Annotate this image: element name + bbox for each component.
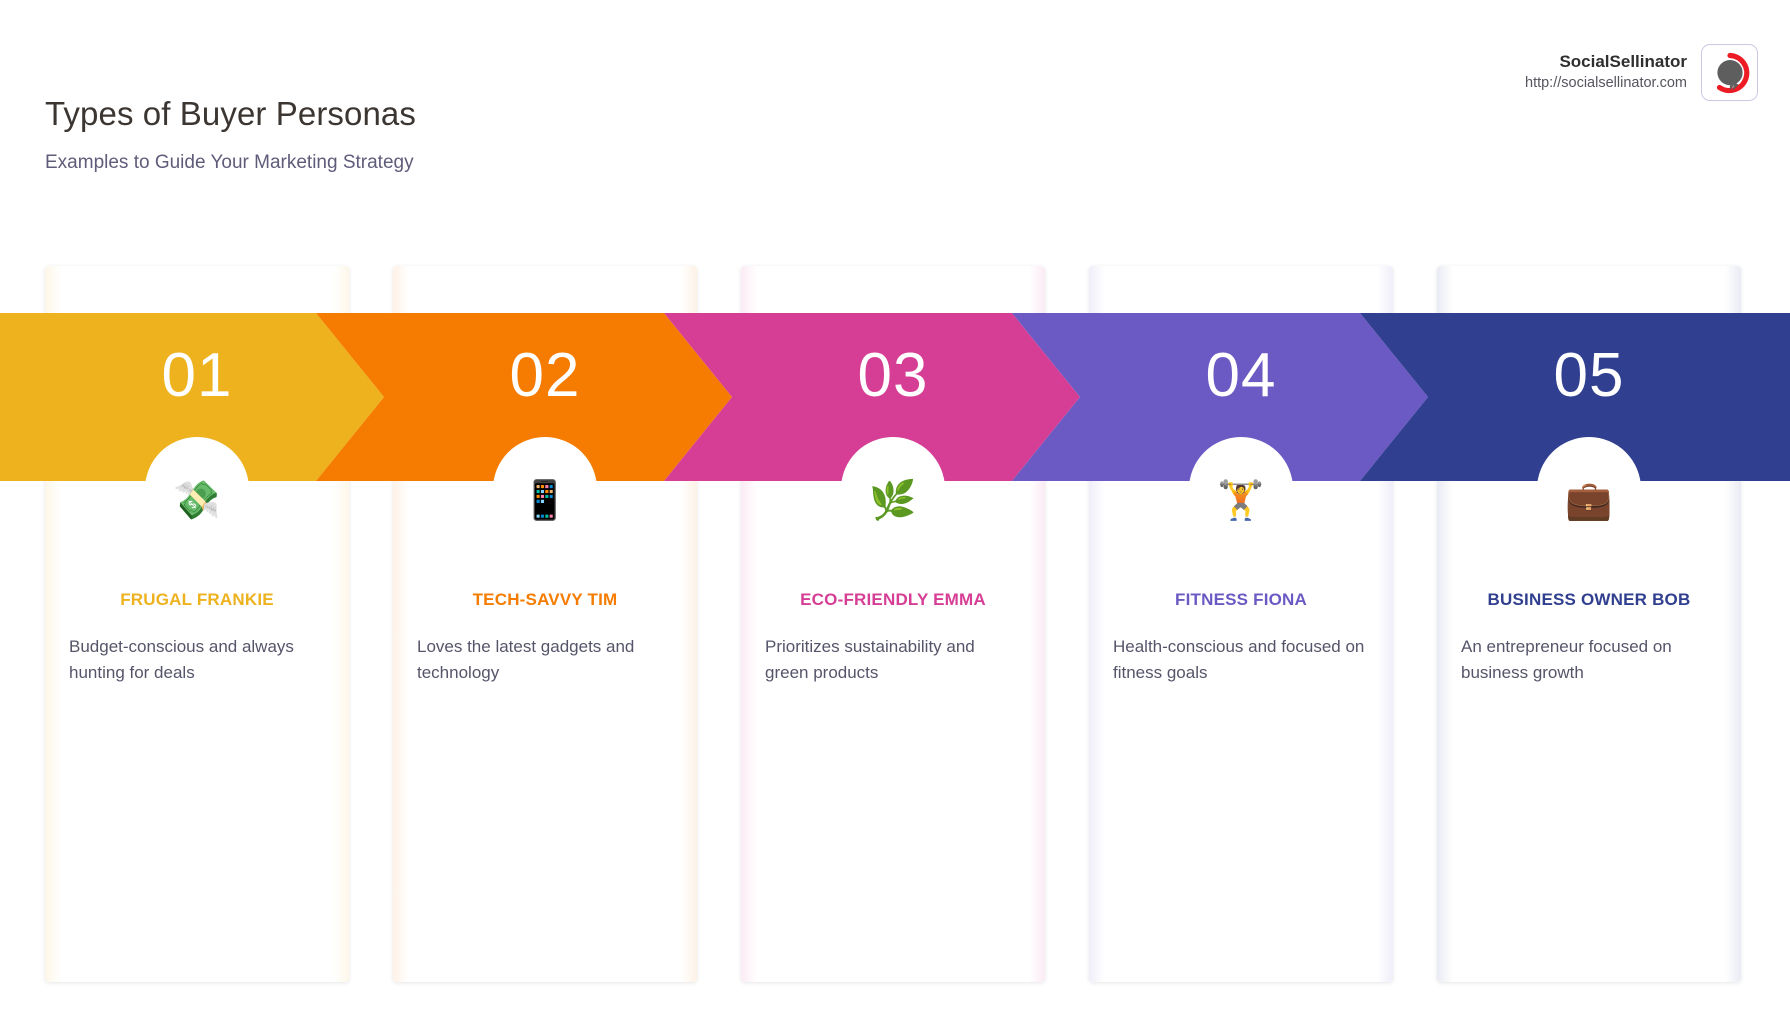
- infographic-page: Types of Buyer Personas Examples to Guid…: [0, 0, 1790, 1024]
- step-number: 03: [741, 340, 1045, 411]
- persona-description: Health-conscious and focused on fitness …: [1113, 634, 1369, 687]
- persona-label: FITNESS FIONA: [1089, 590, 1393, 610]
- persona-label: ECO-FRIENDLY EMMA: [741, 590, 1045, 610]
- persona-description: An entrepreneur focused on business grow…: [1461, 634, 1717, 687]
- persona-description: Budget-conscious and always hunting for …: [69, 634, 325, 687]
- persona-icon: 🌿: [741, 481, 1045, 519]
- persona-description: Loves the latest gadgets and technology: [417, 634, 673, 687]
- personas-stage: 💸 FRUGAL FRANKIE Budget-conscious and al…: [0, 0, 1790, 1024]
- persona-label: FRUGAL FRANKIE: [45, 590, 349, 610]
- step-number: 02: [393, 340, 697, 411]
- persona-icon: 💼: [1437, 481, 1741, 519]
- step-number: 05: [1437, 340, 1741, 411]
- persona-label: BUSINESS OWNER BOB: [1437, 590, 1741, 610]
- persona-icon: 📱: [393, 481, 697, 519]
- step-number: 01: [45, 340, 349, 411]
- persona-icon: 💸: [45, 481, 349, 519]
- step-number: 04: [1089, 340, 1393, 411]
- persona-icon: 🏋️: [1089, 481, 1393, 519]
- persona-description: Prioritizes sustainability and green pro…: [765, 634, 1021, 687]
- persona-label: TECH-SAVVY TIM: [393, 590, 697, 610]
